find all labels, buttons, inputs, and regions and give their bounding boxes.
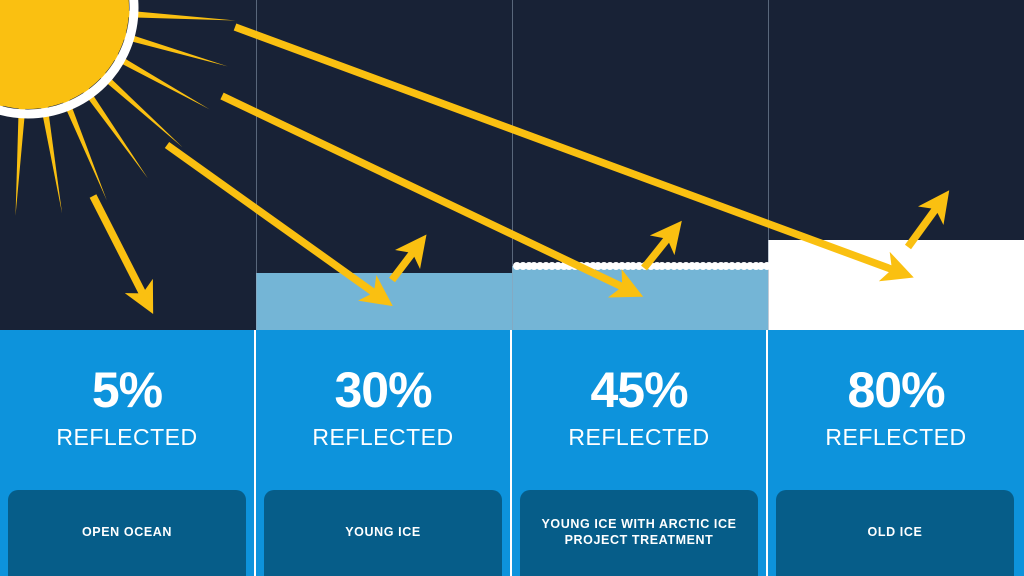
panel-divider-3 [768, 0, 769, 330]
infographic-canvas: 5% REFLECTED OPEN OCEAN 30% REFLECTED YO… [0, 0, 1024, 576]
stat-band-gap [254, 330, 256, 576]
percent-value: 80% [768, 365, 1024, 415]
sky-region [0, 0, 256, 330]
surface-type-label: OPEN OCEAN [72, 525, 182, 541]
surface-type-label-box: OLD ICE [776, 490, 1014, 576]
surface-type-label-box: YOUNG ICE [264, 490, 502, 576]
surface-type-label: YOUNG ICE WITH ARCTIC ICE PROJECT TREATM… [520, 517, 758, 548]
reflected-label: REFLECTED [256, 426, 510, 449]
panel-divider-2 [512, 0, 513, 330]
sky-region [512, 0, 768, 266]
reflective-bead-layer-icon [512, 262, 768, 271]
stat-band-gap [510, 330, 512, 576]
surface-type-label: YOUNG ICE [335, 525, 431, 541]
reflected-label: REFLECTED [0, 426, 254, 449]
reflected-label: REFLECTED [768, 426, 1024, 449]
surface-type-label: OLD ICE [858, 525, 933, 541]
stat-band-old-ice: 80% REFLECTED OLD ICE [768, 330, 1024, 576]
stat-band-young-ice: 30% REFLECTED YOUNG ICE [256, 330, 510, 576]
sky-region [256, 0, 512, 273]
reflected-label: REFLECTED [512, 426, 766, 449]
stat-band-young-ice-treated: 45% REFLECTED YOUNG ICE WITH ARCTIC ICE … [512, 330, 766, 576]
surface-young-ice-treated [512, 266, 768, 330]
sky-region [768, 0, 1024, 240]
surface-type-label-box: YOUNG ICE WITH ARCTIC ICE PROJECT TREATM… [520, 490, 758, 576]
surface-young-ice [256, 273, 512, 330]
surface-old-ice [768, 240, 1024, 330]
percent-value: 5% [0, 365, 254, 415]
surface-type-label-box: OPEN OCEAN [8, 490, 246, 576]
panel-divider-1 [256, 0, 257, 330]
percent-value: 45% [512, 365, 766, 415]
percent-value: 30% [256, 365, 510, 415]
stat-band-open-ocean: 5% REFLECTED OPEN OCEAN [0, 330, 254, 576]
stat-band-gap [766, 330, 768, 576]
